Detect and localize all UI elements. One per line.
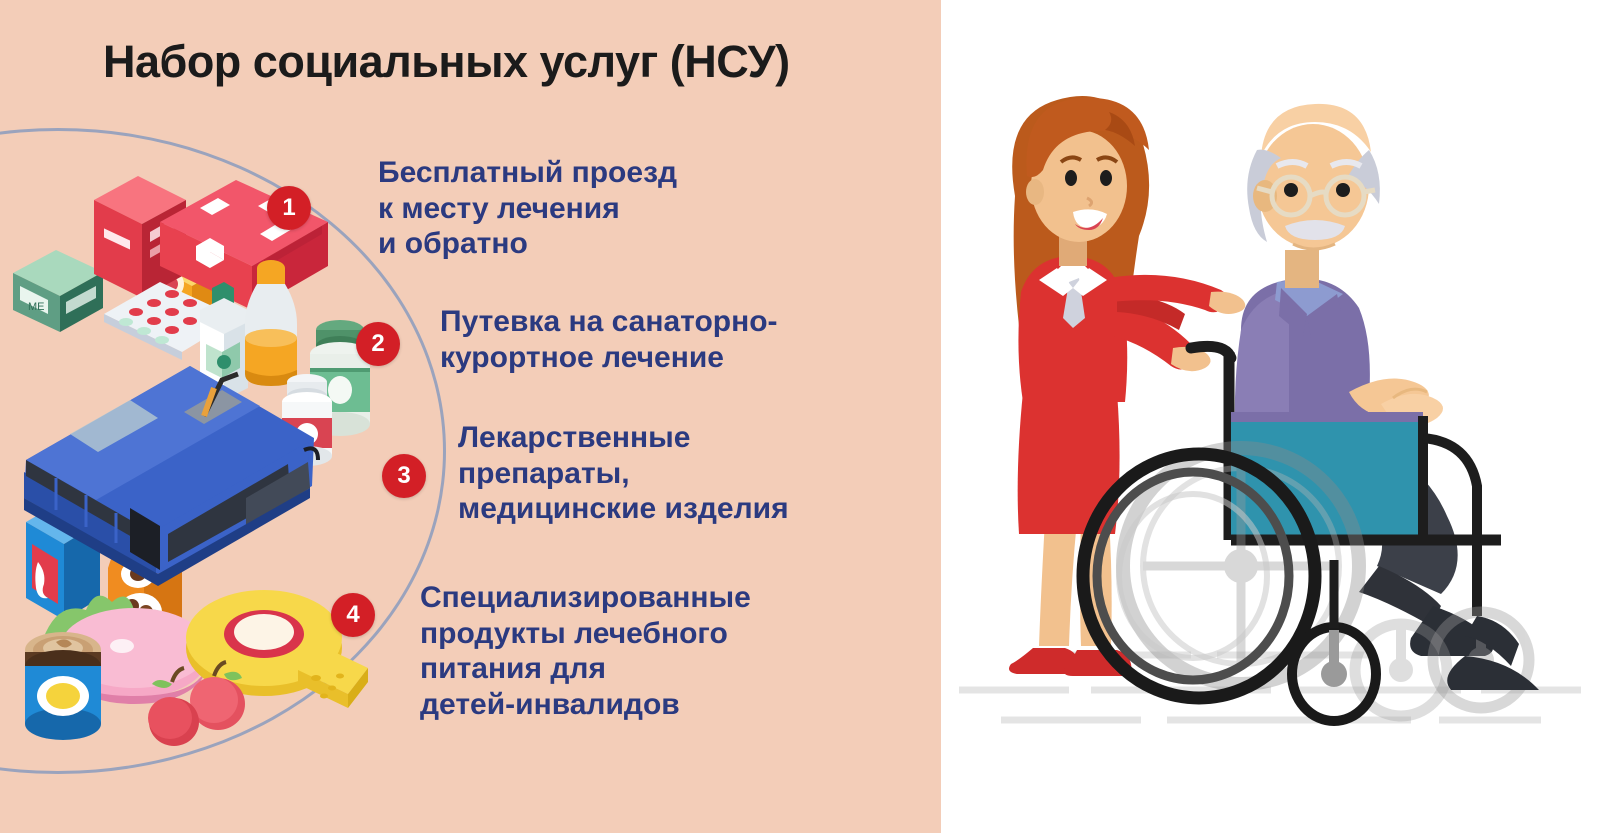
service-text-4: Специализированные продукты лечебного пи… bbox=[420, 580, 751, 723]
page-title: Набор социальных услуг (НСУ) bbox=[103, 36, 790, 88]
service-text-1: Бесплатный проезд к месту лечения и обра… bbox=[378, 155, 677, 262]
caregiver-wheelchair-illustration bbox=[941, 0, 1600, 833]
apples-icon bbox=[128, 660, 258, 760]
badge-2: 2 bbox=[356, 322, 400, 366]
eye-right bbox=[1100, 170, 1112, 186]
badge-3: 3 bbox=[382, 454, 426, 498]
left-info-panel: Набор социальных услуг (НСУ) ME bbox=[0, 0, 941, 833]
illustration-panel bbox=[941, 0, 1600, 833]
badge-1: 1 bbox=[267, 186, 311, 230]
service-text-2: Путевка на санаторно- курортное лечение bbox=[440, 304, 778, 375]
svg-text:ME: ME bbox=[28, 301, 45, 313]
wheelchair bbox=[1083, 412, 1539, 721]
service-text-3: Лекарственные препараты, медицинские изд… bbox=[458, 420, 789, 527]
eye-left bbox=[1284, 183, 1298, 197]
infographic-root: Набор социальных услуг (НСУ) ME bbox=[0, 0, 1600, 833]
eye-left bbox=[1065, 170, 1077, 186]
badge-4: 4 bbox=[331, 593, 375, 637]
canned-food-icon bbox=[8, 620, 118, 760]
eye-right bbox=[1336, 183, 1350, 197]
tram-icon bbox=[8, 338, 338, 588]
main-wheel bbox=[1083, 454, 1315, 698]
